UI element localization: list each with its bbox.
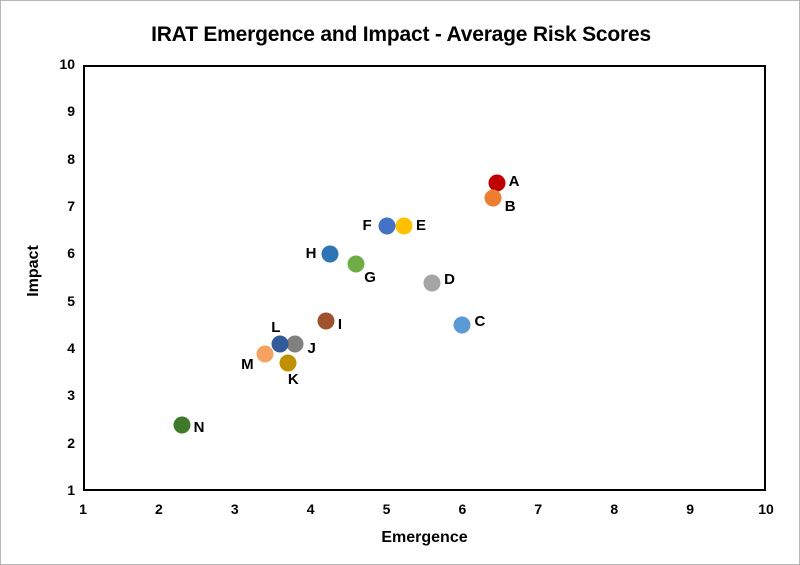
scatter-point[interactable]	[287, 336, 304, 353]
scatter-point[interactable]	[257, 345, 274, 362]
scatter-point[interactable]	[484, 189, 501, 206]
x-tick-label: 3	[220, 501, 250, 517]
scatter-point-label: E	[416, 217, 426, 234]
x-tick-label: 5	[372, 501, 402, 517]
scatter-point-label: D	[444, 271, 455, 288]
x-tick-label: 2	[144, 501, 174, 517]
scatter-point[interactable]	[454, 317, 471, 334]
scatter-point-label: B	[505, 198, 516, 215]
scatter-point[interactable]	[321, 246, 338, 263]
y-tick-label: 3	[45, 387, 75, 403]
y-tick-label: 8	[45, 151, 75, 167]
scatter-point-label: K	[288, 371, 299, 388]
scatter-point[interactable]	[173, 416, 190, 433]
scatter-point[interactable]	[348, 255, 365, 272]
y-tick-label: 4	[45, 340, 75, 356]
scatter-point-label: J	[307, 340, 315, 357]
y-tick-label: 6	[45, 245, 75, 261]
scatter-point-label: A	[509, 173, 520, 190]
scatter-point[interactable]	[378, 217, 395, 234]
x-tick-label: 10	[751, 501, 781, 517]
scatter-point-label: H	[306, 245, 317, 262]
scatter-point-label: N	[194, 419, 205, 436]
y-tick-label: 9	[45, 103, 75, 119]
scatter-point-label: I	[338, 316, 342, 333]
x-tick-label: 1	[68, 501, 98, 517]
plot-data-area: ABCDEFGHIJKLMN	[83, 65, 766, 491]
scatter-point-label: L	[271, 319, 280, 336]
scatter-point-label: G	[364, 269, 376, 286]
x-tick-label: 6	[447, 501, 477, 517]
scatter-point-label: F	[363, 217, 372, 234]
scatter-point[interactable]	[317, 312, 334, 329]
scatter-point-label: M	[241, 356, 254, 373]
y-tick-label: 1	[45, 482, 75, 498]
y-tick-label: 10	[45, 56, 75, 72]
x-axis-title: Emergence	[83, 529, 766, 547]
chart-page: IRAT Emergence and Impact - Average Risk…	[0, 0, 800, 565]
scatter-point[interactable]	[279, 355, 296, 372]
x-tick-label: 9	[675, 501, 705, 517]
scatter-point-label: C	[474, 313, 485, 330]
scatter-point[interactable]	[272, 336, 289, 353]
chart-title: IRAT Emergence and Impact - Average Risk…	[1, 23, 800, 47]
y-tick-label: 5	[45, 293, 75, 309]
x-tick-label: 7	[523, 501, 553, 517]
x-tick-label: 8	[599, 501, 629, 517]
scatter-point[interactable]	[396, 217, 413, 234]
y-axis-title: Impact	[25, 221, 43, 321]
scatter-point[interactable]	[424, 274, 441, 291]
x-tick-label: 4	[296, 501, 326, 517]
y-tick-label: 2	[45, 435, 75, 451]
y-tick-label: 7	[45, 198, 75, 214]
